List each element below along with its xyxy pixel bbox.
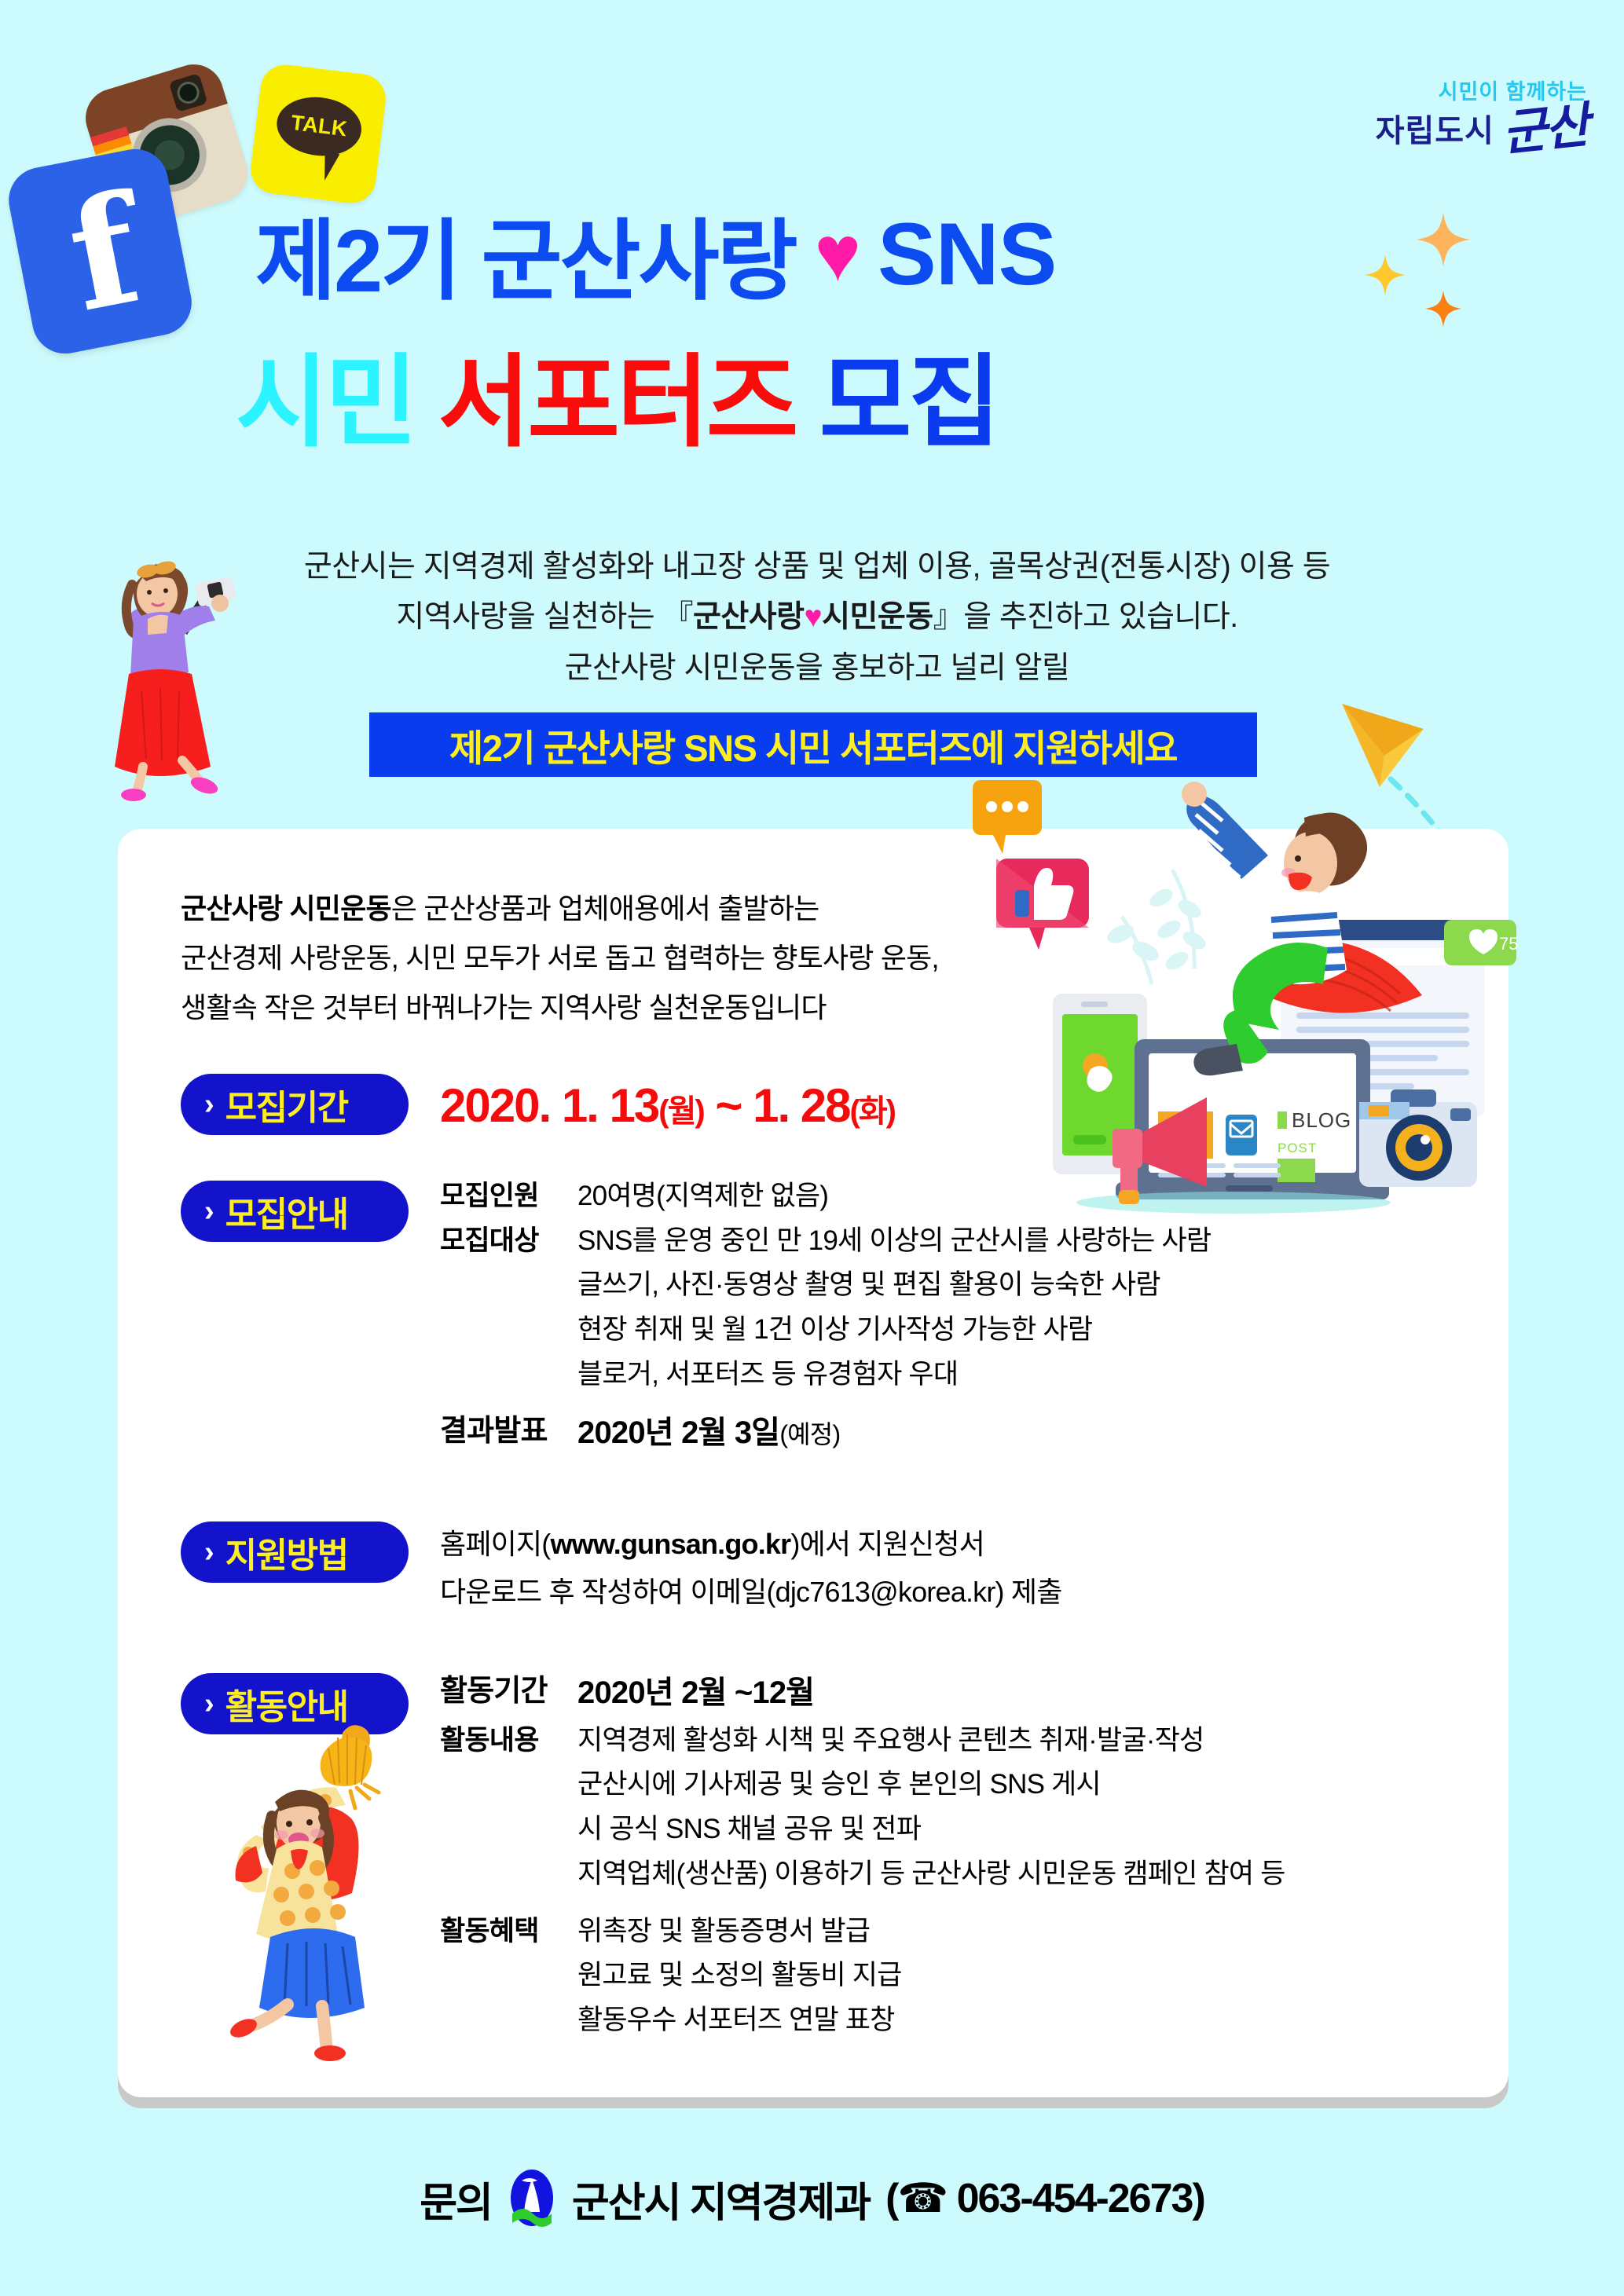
result-note: (예정) bbox=[779, 1415, 840, 1459]
kakaotalk-icon: TALK bbox=[248, 62, 389, 206]
card-desc-line2: 군산경제 사랑운동, 시민 모두가 서로 돕고 협력하는 향토사랑 운동, bbox=[181, 933, 1061, 983]
table-row-activity-period: 활동기간 2020년 2월 ~12월 bbox=[440, 1668, 1461, 1719]
badge-recruit-info-label: 모집안내 bbox=[225, 1186, 348, 1236]
city-logo-subtitle: 자립도시 bbox=[1376, 105, 1494, 151]
chevron-right-icon: › bbox=[204, 1089, 214, 1119]
heart-icon-inline: ♥ bbox=[805, 600, 823, 634]
row-value: 지역업체(생산품) 이용하기 등 군산사랑 시민운동 캠페인 참여 등 bbox=[577, 1852, 1285, 1897]
row-key: 활동기간 bbox=[440, 1668, 577, 1719]
row-value: 지역경제 활성화 시책 및 주요행사 콘텐츠 취재·발굴·작성 bbox=[577, 1719, 1204, 1763]
table-row-benefit: 활동혜택 위촉장 및 활동증명서 발급 bbox=[440, 1910, 1461, 1954]
row-value: 20여명(지역제한 없음) bbox=[577, 1174, 828, 1219]
intro-line2-bold2: 시민운동 bbox=[822, 600, 933, 634]
card-desc-bold-lead: 군산사랑 시민운동 bbox=[181, 892, 391, 925]
heart-count-badge: 75 bbox=[1444, 920, 1518, 965]
row-value: 시 공식 SNS 채널 공유 및 전파 bbox=[577, 1807, 921, 1852]
table-row: 글쓰기, 사진·동영상 촬영 및 편집 활용이 능숙한 사람 bbox=[440, 1263, 1422, 1308]
row-value: 위촉장 및 활동증명서 발급 bbox=[577, 1910, 870, 1954]
row-key bbox=[440, 1954, 577, 1998]
row-value: 활동우수 서포터즈 연말 표창 bbox=[577, 1998, 895, 2043]
sparkle-icon-orange bbox=[1424, 289, 1463, 328]
row-value: 2020년 2월 ~12월 bbox=[577, 1668, 814, 1719]
badge-recruit-period-label: 모집기간 bbox=[225, 1079, 348, 1130]
table-row: 군산시에 기사제공 및 승인 후 본인의 SNS 게시 bbox=[440, 1763, 1461, 1807]
recruit-period-date1: 2020. 1. 13 bbox=[440, 1079, 658, 1132]
intro-line2-post: 』을 추진하고 있습니다. bbox=[933, 600, 1238, 634]
intro-line2-bold1: 군산사랑 bbox=[693, 600, 805, 634]
camera-icon bbox=[1359, 1089, 1477, 1187]
table-row: 활동우수 서포터즈 연말 표창 bbox=[440, 1998, 1461, 2043]
row-key bbox=[440, 1807, 577, 1852]
intro-line1: 군산시는 지역경제 활성화와 내고장 상품 및 업체 이용, 골목상권(전통시장… bbox=[157, 542, 1477, 592]
table-row: 지역업체(생산품) 이용하기 등 군산사랑 시민운동 캠페인 참여 등 bbox=[440, 1852, 1461, 1897]
recruit-period-day1: (월) bbox=[658, 1094, 703, 1129]
row-value: 현장 취재 및 월 1건 이상 기사작성 가능한 사람 bbox=[577, 1308, 1092, 1353]
row-value: 군산시에 기사제공 및 승인 후 본인의 SNS 게시 bbox=[577, 1763, 1101, 1807]
apply-method-line2: 다운로드 후 작성하여 이메일(djc7613@korea.kr) 제출 bbox=[440, 1568, 1422, 1616]
intro-line3: 군산사랑 시민운동을 홍보하고 널리 알릴 bbox=[157, 643, 1477, 694]
table-row-result: 결과발표 2020년 2월 3일 (예정) bbox=[440, 1408, 1422, 1459]
badge-recruit-period: › 모집기간 bbox=[181, 1074, 409, 1135]
facebook-icon-glyph: f bbox=[60, 181, 148, 325]
card-desc-line1-rest: 은 군산상품과 업체애용에서 출발하는 bbox=[391, 892, 819, 925]
apply-method-url: www.gunsan.go.kr bbox=[550, 1528, 790, 1560]
recruit-info-rows: 모집인원 20여명(지역제한 없음) 모집대상 SNS를 운영 중인 만 19세… bbox=[440, 1174, 1422, 1459]
sparkle-icon-small bbox=[1363, 253, 1407, 297]
page-title-line2: 시민 서포터즈 모집 bbox=[236, 338, 1493, 448]
table-row: 모집대상 SNS를 운영 중인 만 19세 이상의 군산시를 사랑하는 사람 bbox=[440, 1219, 1422, 1264]
table-row: 원고료 및 소정의 활동비 지급 bbox=[440, 1954, 1461, 1998]
footer-contact: 문의 군산시 지역경제과 (☎ 063-454-2673) bbox=[0, 2168, 1624, 2229]
intro-text-block: 군산시는 지역경제 활성화와 내고장 상품 및 업체 이용, 골목상권(전통시장… bbox=[157, 542, 1477, 694]
row-value: 글쓰기, 사진·동영상 촬영 및 편집 활용이 능숙한 사람 bbox=[577, 1263, 1160, 1308]
chat-bubble-icon bbox=[973, 780, 1042, 854]
row-key bbox=[440, 1998, 577, 2043]
chevron-right-icon: › bbox=[204, 1537, 214, 1567]
row-key: 활동혜택 bbox=[440, 1910, 577, 1954]
gunsan-city-logo: 시민이 함께하는 자립도시 군산 bbox=[1328, 75, 1587, 151]
heart-icon: ♥ bbox=[815, 214, 859, 293]
poster-root: 시민이 함께하는 자립도시 군산 TALK f 제2기 군산사랑 ♥ SNS bbox=[0, 0, 1624, 2296]
result-key: 결과발표 bbox=[440, 1408, 577, 1459]
row-key: 모집대상 bbox=[440, 1219, 577, 1264]
svg-text:POST: POST bbox=[1278, 1141, 1317, 1155]
row-value: SNS를 운영 중인 만 19세 이상의 군산시를 사랑하는 사람 bbox=[577, 1219, 1211, 1264]
kakaotalk-icon-label: TALK bbox=[290, 111, 349, 142]
city-logo-brand: 군산 bbox=[1500, 105, 1589, 156]
row-key: 모집인원 bbox=[440, 1174, 577, 1219]
kakaotalk-icon-bubble: TALK bbox=[273, 92, 365, 160]
row-key bbox=[440, 1263, 577, 1308]
apply-method-pre: 홈페이지( bbox=[440, 1528, 550, 1560]
recruit-period-value: 2020. 1. 13(월) ~ 1. 28(화) bbox=[440, 1078, 895, 1133]
footer-org: 군산시 지역경제과 bbox=[572, 2170, 870, 2228]
row-key bbox=[440, 1353, 577, 1397]
row-key bbox=[440, 1308, 577, 1353]
intro-line2: 지역사랑을 실천하는 『군산사랑♥시민운동』을 추진하고 있습니다. bbox=[157, 592, 1477, 643]
apply-method-post: )에서 지원신청서 bbox=[790, 1528, 984, 1560]
info-card: 75 bbox=[118, 829, 1509, 2097]
table-row: 시 공식 SNS 채널 공유 및 전파 bbox=[440, 1807, 1461, 1852]
row-value: 원고료 및 소정의 활동비 지급 bbox=[577, 1954, 902, 1998]
activity-info-rows: 활동기간 2020년 2월 ~12월 활동내용 지역경제 활성화 시책 및 주요… bbox=[440, 1668, 1461, 2043]
recruit-period-day2: (화) bbox=[850, 1094, 895, 1129]
page-title-line1: 제2기 군산사랑 ♥ SNS bbox=[255, 203, 1355, 305]
row-key bbox=[440, 1763, 577, 1807]
table-row: 현장 취재 및 월 1건 이상 기사작성 가능한 사람 bbox=[440, 1308, 1422, 1353]
leaf-decoration bbox=[1104, 870, 1208, 984]
row-key: 활동내용 bbox=[440, 1719, 577, 1763]
title-line2-c: 모집 bbox=[819, 320, 999, 466]
table-row: 활동내용 지역경제 활성화 시책 및 주요행사 콘텐츠 취재·발굴·작성 bbox=[440, 1719, 1461, 1763]
sparkle-icon-medium bbox=[1414, 211, 1472, 269]
row-value: 블로거, 서포터즈 등 유경험자 우대 bbox=[577, 1353, 958, 1397]
badge-apply-method: › 지원방법 bbox=[181, 1522, 409, 1583]
footer-inquiry-label: 문의 bbox=[420, 2170, 492, 2228]
card-description: 군산사랑 시민운동은 군산상품과 업체애용에서 출발하는 군산경제 사랑운동, … bbox=[181, 884, 1061, 1032]
title-line2-a: 시민 bbox=[236, 320, 415, 466]
svg-text:75: 75 bbox=[1499, 934, 1518, 954]
chevron-right-icon: › bbox=[204, 1689, 214, 1719]
table-row: 블로거, 서포터즈 등 유경험자 우대 bbox=[440, 1353, 1422, 1397]
title-line2-b: 서포터즈 bbox=[438, 320, 796, 466]
title-line1-b: SNS bbox=[878, 203, 1056, 305]
card-desc-line1: 군산사랑 시민운동은 군산상품과 업체애용에서 출발하는 bbox=[181, 884, 1061, 933]
row-key bbox=[440, 1852, 577, 1897]
recruit-period-mid: ~ 1. 28 bbox=[704, 1079, 850, 1132]
card-desc-line3: 생활속 작은 것부터 바꿔나가는 지역사랑 실천운동입니다 bbox=[181, 983, 1061, 1032]
cta-banner-text: 제2기 군산사랑 SNS 시민 서포터즈에 지원하세요 bbox=[449, 718, 1177, 772]
badge-apply-method-label: 지원방법 bbox=[225, 1527, 348, 1577]
apply-method-line1: 홈페이지(www.gunsan.go.kr)에서 지원신청서 bbox=[440, 1520, 1422, 1568]
chevron-right-icon: › bbox=[204, 1196, 214, 1226]
cheerleader-woman-illustration bbox=[189, 1720, 440, 2062]
title-line1-a: 제2기 군산사랑 bbox=[255, 190, 796, 317]
apply-method-text: 홈페이지(www.gunsan.go.kr)에서 지원신청서 다운로드 후 작성… bbox=[440, 1520, 1422, 1616]
gunsan-emblem-icon bbox=[508, 2168, 556, 2229]
intro-line2-pre: 지역사랑을 실천하는 『 bbox=[396, 600, 693, 634]
footer-phone: (☎ 063-454-2673) bbox=[885, 2175, 1204, 2222]
result-value: 2020년 2월 3일 bbox=[577, 1408, 779, 1459]
table-row: 모집인원 20여명(지역제한 없음) bbox=[440, 1174, 1422, 1219]
svg-text:BLOG: BLOG bbox=[1292, 1108, 1351, 1132]
badge-recruit-info: › 모집안내 bbox=[181, 1181, 409, 1242]
